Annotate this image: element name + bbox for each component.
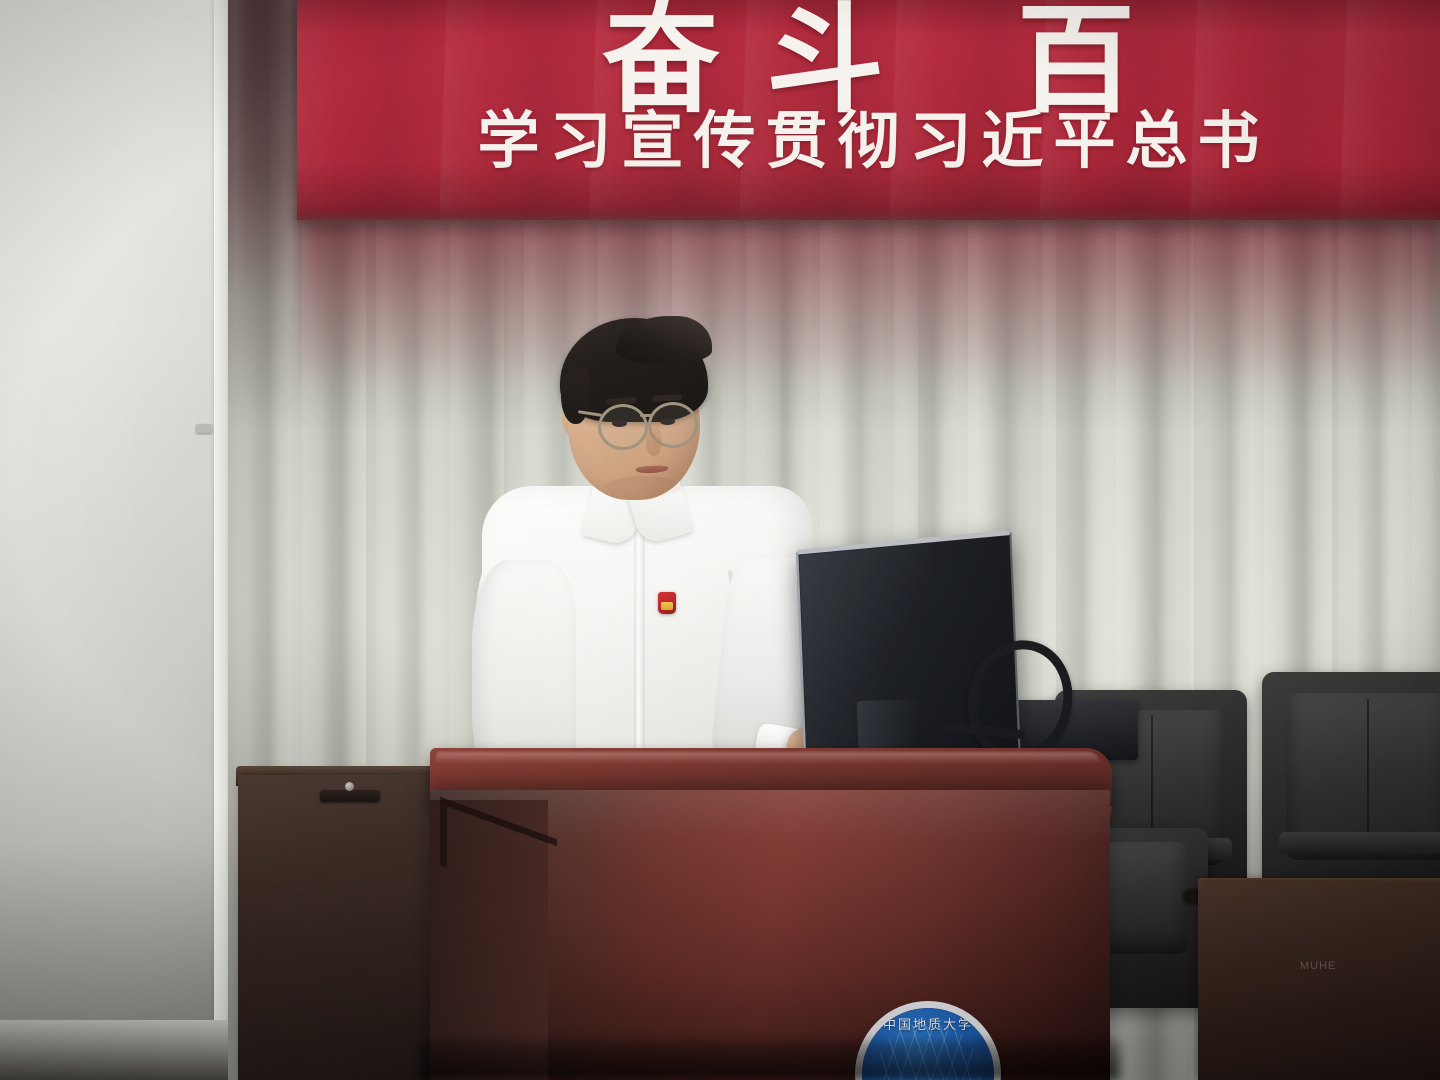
emblem-ring-text: 中国地质大学: [862, 1014, 994, 1033]
hair-sideburn: [561, 368, 589, 424]
dark-wood-back-table: [1198, 882, 1440, 1080]
banner-bottom-edge-shadow: [297, 212, 1440, 228]
chair-armrest: [1279, 832, 1440, 854]
back-table-label: MUHE: [1300, 960, 1336, 972]
lectern-top-highlight: [436, 752, 1100, 764]
side-cabinet-knob: [345, 782, 354, 791]
chin-shading: [606, 476, 682, 498]
eyeglasses-lens-left: [598, 404, 648, 450]
red-event-banner: 奋斗 百 学习宣传贯彻习近平总书: [297, 0, 1440, 220]
left-wall-shading: [0, 0, 232, 1080]
nose: [646, 428, 662, 456]
party-pin-gold-detail: [661, 602, 673, 610]
eyeglasses-bridge: [640, 414, 652, 417]
lectern-floor-shadow: [420, 1040, 1120, 1080]
side-cabinet-handle: [320, 790, 380, 802]
speaker-at-lectern: [420, 310, 850, 810]
photo-scene: MUHE: [0, 0, 1440, 1080]
wall-baseboard: [0, 1020, 228, 1080]
wall-bracket: [196, 424, 212, 433]
chair-seam: [1367, 699, 1369, 849]
